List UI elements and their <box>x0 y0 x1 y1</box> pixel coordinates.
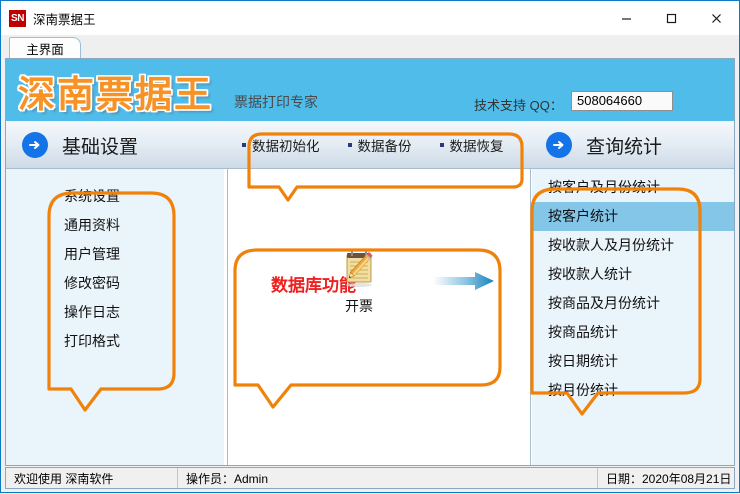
app-banner: 深南票据王 票据打印专家 技术支持 QQ： 508064660 <box>6 59 734 121</box>
banner-title: 深南票据王 <box>18 64 213 118</box>
banner-subtitle: 票据打印专家 <box>234 92 318 112</box>
menu-item-user-management[interactable]: 用户管理 <box>6 240 224 269</box>
window-title: 深南票据王 <box>33 9 96 28</box>
nav-query-stats-label: 查询统计 <box>586 132 662 159</box>
window-controls <box>604 1 739 35</box>
db-item-restore[interactable]: 数据恢复 <box>440 135 504 155</box>
status-bar: 欢迎使用 深南软件 操作员：Admin 日期：2020年08月21日 <box>5 467 735 489</box>
basic-settings-menu: 系统设置 通用资料 用户管理 修改密码 操作日志 打印格式 <box>6 182 224 356</box>
bullet-icon <box>440 143 444 147</box>
nav-basic-settings-label: 基础设置 <box>62 132 138 159</box>
db-item-backup[interactable]: 数据备份 <box>348 135 412 155</box>
qq-support-input[interactable]: 508064660 <box>571 91 673 111</box>
maximize-icon[interactable] <box>649 1 694 35</box>
query-stats-menu: 按客户及月份统计 按客户统计 按收款人及月份统计 按收款人统计 按商品及月份统计… <box>532 173 734 405</box>
menu-item-by-date[interactable]: 按日期统计 <box>532 347 734 376</box>
status-welcome: 欢迎使用 深南软件 <box>6 468 178 488</box>
tab-label: 主界面 <box>26 39 64 58</box>
center-pane: 数据库功能 <box>228 169 528 465</box>
menu-item-print-format[interactable]: 打印格式 <box>6 327 224 356</box>
menu-item-operation-log[interactable]: 操作日志 <box>6 298 224 327</box>
db-item-label: 数据恢复 <box>450 135 504 155</box>
menu-item-by-payee-month[interactable]: 按收款人及月份统计 <box>532 231 734 260</box>
application-window: SN 深南票据王 主界面 深南票据王 票据打印专家 技术支持 QQ： 50806… <box>0 0 740 493</box>
main-content: 深南票据王 票据打印专家 技术支持 QQ： 508064660 基础设置 数据初… <box>5 58 735 466</box>
invoice-button[interactable]: 开票 <box>323 247 395 316</box>
menu-item-change-password[interactable]: 修改密码 <box>6 269 224 298</box>
db-item-init[interactable]: 数据初始化 <box>242 135 320 155</box>
bullet-icon <box>348 143 352 147</box>
app-logo-icon: SN <box>9 10 26 27</box>
minimize-icon[interactable] <box>604 1 649 35</box>
arrow-right-circle-icon <box>22 132 48 158</box>
invoice-button-label: 开票 <box>323 296 395 316</box>
menu-item-by-month[interactable]: 按月份统计 <box>532 376 734 405</box>
right-pane: 按客户及月份统计 按客户统计 按收款人及月份统计 按收款人统计 按商品及月份统计… <box>532 169 734 465</box>
qq-support-label: 技术支持 QQ： <box>474 95 563 114</box>
title-bar: SN 深南票据王 <box>1 1 739 35</box>
close-icon[interactable] <box>694 1 739 35</box>
notepad-pencil-icon <box>338 276 380 293</box>
tab-strip: 主界面 <box>1 35 739 58</box>
menu-item-by-customer-month[interactable]: 按客户及月份统计 <box>532 173 734 202</box>
status-date: 日期：2020年08月21日 <box>598 468 734 488</box>
status-operator: 操作员：Admin <box>178 468 598 488</box>
nav-row: 基础设置 数据初始化 数据备份 数据恢复 <box>6 121 734 169</box>
menu-item-by-payee[interactable]: 按收款人统计 <box>532 260 734 289</box>
db-item-label: 数据初始化 <box>252 135 320 155</box>
nav-basic-settings[interactable]: 基础设置 <box>22 121 138 169</box>
menu-item-system-settings[interactable]: 系统设置 <box>6 182 224 211</box>
database-menu: 数据初始化 数据备份 数据恢复 <box>242 121 532 169</box>
tab-main-interface[interactable]: 主界面 <box>9 37 81 58</box>
gradient-arrow-right-icon <box>433 271 495 296</box>
menu-item-by-product[interactable]: 按商品统计 <box>532 318 734 347</box>
pane-divider-right <box>530 169 531 465</box>
menu-item-by-customer[interactable]: 按客户统计 <box>532 202 734 231</box>
left-pane: 系统设置 通用资料 用户管理 修改密码 操作日志 打印格式 基础设置功能 <box>6 169 224 465</box>
menu-item-general-data[interactable]: 通用资料 <box>6 211 224 240</box>
bullet-icon <box>242 143 246 147</box>
arrow-right-circle-icon <box>546 132 572 158</box>
db-item-label: 数据备份 <box>358 135 412 155</box>
nav-query-stats[interactable]: 查询统计 <box>546 121 662 169</box>
menu-item-by-product-month[interactable]: 按商品及月份统计 <box>532 289 734 318</box>
